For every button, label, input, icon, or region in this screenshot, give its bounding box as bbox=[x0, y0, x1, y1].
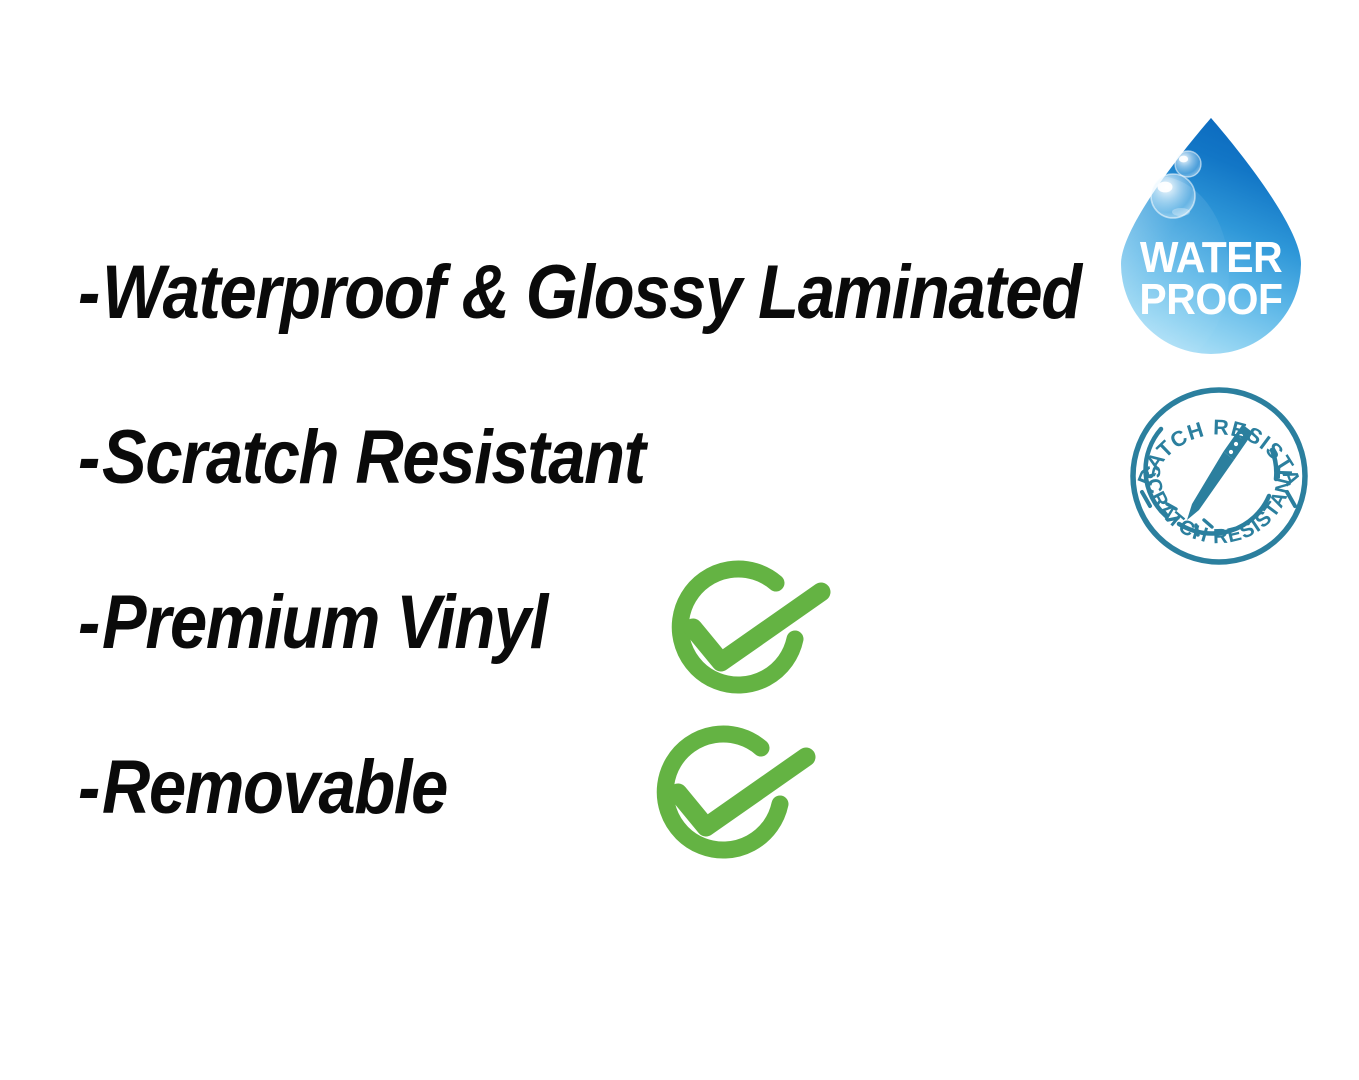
drop-text-proof: PROOF bbox=[1139, 276, 1282, 325]
check-mark-icon bbox=[693, 592, 821, 662]
feature-line-premium-vinyl: -Premium Vinyl bbox=[78, 585, 547, 661]
feature-label: Waterproof & Glossy Laminated bbox=[102, 250, 1081, 335]
feature-line-removable: -Removable bbox=[78, 750, 447, 826]
feature-line-waterproof: -Waterproof & Glossy Laminated bbox=[78, 255, 1081, 331]
feature-bullet-dash: - bbox=[78, 745, 102, 830]
scratch-resistant-stamp: SCRATCH RESISTANT SCRATCH RESISTANT bbox=[1124, 384, 1314, 568]
feature-label: Premium Vinyl bbox=[102, 580, 547, 665]
feature-bullet-dash: - bbox=[78, 415, 102, 500]
green-check-badge-removable bbox=[630, 722, 820, 877]
feature-bullet-dash: - bbox=[78, 250, 102, 335]
feature-bullet-dash: - bbox=[78, 580, 102, 665]
waterproof-drop-badge: WATER PROOF bbox=[1105, 104, 1317, 356]
check-mark-icon bbox=[678, 757, 806, 827]
green-check-badge-premium-vinyl bbox=[645, 557, 835, 712]
feature-highlight-canvas: -Waterproof & Glossy Laminated -Scratch … bbox=[0, 0, 1359, 1080]
feature-label: Removable bbox=[102, 745, 447, 830]
feature-line-scratch-resistant: -Scratch Resistant bbox=[78, 420, 645, 496]
feature-label: Scratch Resistant bbox=[102, 415, 645, 500]
